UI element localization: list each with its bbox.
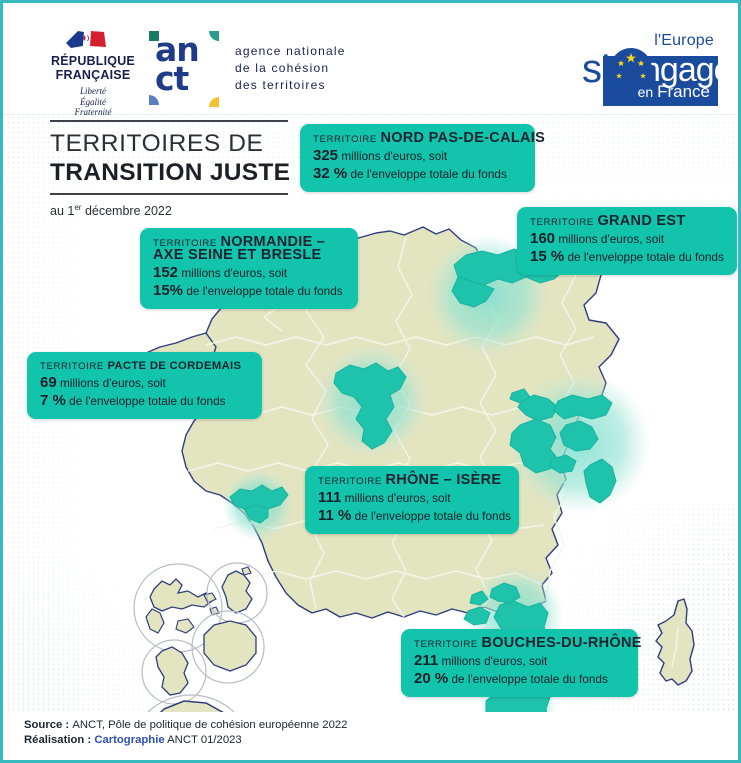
- callout-header: TERRITOIRE BOUCHES-DU-RHÔNE: [414, 636, 625, 652]
- anct-wordmark: an ct: [155, 33, 217, 95]
- poster-title-block: TERRITOIRES DE TRANSITION JUSTE au 1er d…: [50, 120, 312, 218]
- europe-leurope-text: l'Europe: [654, 32, 714, 50]
- callout-share-unit: de l'enveloppe totale du fonds: [186, 284, 342, 298]
- callout-share: 32 %: [313, 165, 347, 182]
- republique-motto: Liberté Égalité Fraternité: [41, 86, 145, 118]
- callout-bouches-du-rhone[interactable]: TERRITOIRE BOUCHES-DU-RHÔNE 211 millions…: [401, 629, 638, 697]
- corsica-island: [656, 599, 694, 685]
- republique-title: RÉPUBLIQUE FRANÇAISE: [41, 55, 145, 82]
- callout-share: 20 %: [414, 670, 448, 687]
- callout-amount-unit: millions d'euros, soit: [345, 491, 451, 505]
- poster-body: TERRITOIRES DE TRANSITION JUSTE au 1er d…: [6, 115, 741, 760]
- motto-egalite: Égalité: [41, 97, 145, 108]
- europe-en: en: [638, 84, 657, 100]
- zone-normandie-axe-seine-bresle: [316, 345, 428, 457]
- callout-territory-name: GRAND EST: [597, 213, 685, 229]
- callout-amount-unit: millions d'euros, soit: [60, 376, 166, 390]
- footer-cartographie-link[interactable]: Cartographie: [94, 734, 164, 746]
- page-title-line2: TRANSITION JUSTE: [50, 159, 312, 187]
- callout-pacte-de-cordemais[interactable]: TERRITOIRE PACTE DE CORDEMAIS 69 million…: [27, 352, 262, 419]
- callout-share-unit: de l'enveloppe totale du fonds: [69, 394, 225, 408]
- callout-nord-pas-de-calais[interactable]: TERRITOIRE NORD PAS-DE-CALAIS 325 millio…: [300, 124, 535, 192]
- callout-header: TERRITOIRE RHÔNE – ISÈRE: [318, 473, 506, 489]
- callout-grand-est[interactable]: TERRITOIRE GRAND EST 160 millions d'euro…: [517, 207, 737, 275]
- callout-territory-name: PACTE DE CORDEMAIS: [107, 360, 241, 372]
- callout-amount-line: 325 millions d'euros, soit: [313, 147, 522, 165]
- callout-amount: 152: [153, 264, 178, 281]
- callout-header: TERRITOIRE GRAND EST: [530, 214, 724, 230]
- page-title-line1: TERRITOIRES DE: [50, 130, 312, 158]
- callout-normandie-axe-seine-bresle[interactable]: TERRITOIRE NORMANDIE – AXE SEINE ET BRES…: [140, 228, 358, 309]
- footer-credits: Source : ANCT, Pôle de politique de cohé…: [6, 712, 741, 760]
- date-suffix: décembre 2022: [81, 204, 171, 218]
- callout-share-unit: de l'enveloppe totale du fonds: [567, 250, 723, 264]
- anct-tagline-line2: de la cohésion: [235, 60, 346, 77]
- callout-territory-name-line2: AXE SEINE ET BRESLE: [153, 247, 321, 263]
- republique-francaise-logo: RÉPUBLIQUE FRANÇAISE Liberté Égalité Fra…: [41, 29, 145, 118]
- callout-territory-name: RHÔNE – ISÈRE: [385, 472, 501, 488]
- callout-prefix: TERRITOIRE: [530, 217, 594, 228]
- callout-amount: 211: [414, 652, 438, 669]
- title-rule-top: [50, 120, 288, 122]
- callout-share: 11 %: [318, 507, 351, 524]
- infographic-page: RÉPUBLIQUE FRANÇAISE Liberté Égalité Fra…: [0, 0, 741, 763]
- callout-share-unit: de l'enveloppe totale du fonds: [350, 167, 506, 181]
- anct-logo: an ct: [149, 31, 221, 107]
- europe-s-text: s': [582, 49, 610, 89]
- footer-realisation-rest: ANCT 01/2023: [165, 734, 242, 746]
- callout-amount-line: 152 millions d'euros, soit: [153, 264, 345, 282]
- inset-la-reunion: [192, 611, 264, 683]
- callout-territory-name: BOUCHES-DU-RHÔNE: [481, 635, 641, 651]
- footer-source-label: Source :: [24, 719, 72, 731]
- callout-share-unit: de l'enveloppe totale du fonds: [355, 509, 511, 523]
- callout-amount-line: 111 millions d'euros, soit: [318, 489, 506, 507]
- callout-header: TERRITOIRE NORD PAS-DE-CALAIS: [313, 131, 522, 147]
- republique-line2: FRANÇAISE: [41, 69, 145, 83]
- callout-prefix: TERRITOIRE: [318, 476, 382, 487]
- anct-corner-yellow-icon: [209, 97, 219, 107]
- zone-grand-est: [507, 371, 651, 515]
- callout-share-line: 11 % de l'enveloppe totale du fonds: [318, 507, 506, 525]
- callout-amount: 69: [40, 374, 57, 391]
- anct-tagline: agence nationale de la cohésion des terr…: [235, 43, 346, 94]
- callout-amount-unit: millions d'euros, soit: [558, 232, 664, 246]
- callout-share-line: 20 % de l'enveloppe totale du fonds: [414, 670, 625, 688]
- callout-share: 15%: [153, 282, 183, 299]
- french-flag-icon: [64, 29, 122, 51]
- callout-amount-unit: millions d'euros, soit: [341, 149, 447, 163]
- callout-amount-unit: millions d'euros, soit: [181, 266, 287, 280]
- callout-amount-line: 211 millions d'euros, soit: [414, 652, 625, 670]
- inset-mayotte: [207, 563, 267, 623]
- callout-share: 7 %: [40, 392, 66, 409]
- footer-realisation-label: Réalisation :: [24, 734, 94, 746]
- callout-amount: 111: [318, 489, 341, 506]
- page-subtitle-date: au 1er décembre 2022: [50, 203, 312, 218]
- callout-share-line: 7 % de l'enveloppe totale du fonds: [40, 392, 249, 410]
- motto-liberte: Liberté: [41, 86, 145, 97]
- callout-prefix: TERRITOIRE: [313, 134, 377, 145]
- footer-realisation-line: Réalisation : Cartographie ANCT 01/2023: [24, 733, 242, 748]
- date-prefix: au 1: [50, 204, 74, 218]
- callout-header: TERRITOIRE PACTE DE CORDEMAIS: [40, 359, 249, 374]
- europe-sengage-logo: ngage s' l'Europe en France: [582, 32, 718, 106]
- footer-source-text: ANCT, Pôle de politique de cohésion euro…: [72, 719, 347, 731]
- callout-prefix: TERRITOIRE: [414, 639, 478, 650]
- callout-territory-name: NORD PAS-DE-CALAIS: [380, 130, 545, 146]
- callout-header-line2: AXE SEINE ET BRESLE: [153, 248, 345, 264]
- footer-source-line: Source : ANCT, Pôle de politique de cohé…: [24, 718, 347, 733]
- callout-share-line: 15% de l'enveloppe totale du fonds: [153, 282, 345, 300]
- callout-share-line: 32 % de l'enveloppe totale du fonds: [313, 165, 522, 183]
- header-bar: RÉPUBLIQUE FRANÇAISE Liberté Égalité Fra…: [3, 3, 738, 115]
- callout-prefix: TERRITOIRE: [40, 361, 104, 372]
- title-rule-bottom: [50, 193, 288, 195]
- republique-line1: RÉPUBLIQUE: [41, 55, 145, 69]
- callout-share-unit: de l'enveloppe totale du fonds: [451, 672, 607, 686]
- callout-amount-unit: millions d'euros, soit: [441, 654, 547, 668]
- anct-tagline-line1: agence nationale: [235, 43, 346, 60]
- callout-amount: 160: [530, 230, 555, 247]
- inset-martinique: [142, 640, 206, 704]
- callout-rhone-isere[interactable]: TERRITOIRE RHÔNE – ISÈRE 111 millions d'…: [305, 466, 519, 534]
- europe-enfrance-text: en France: [638, 82, 710, 102]
- zone-pacte-de-cordemais: [222, 469, 294, 541]
- callout-amount-line: 160 millions d'euros, soit: [530, 230, 724, 248]
- callout-share-line: 15 % de l'enveloppe totale du fonds: [530, 248, 724, 266]
- callout-amount: 325: [313, 147, 338, 164]
- callout-amount-line: 69 millions d'euros, soit: [40, 374, 249, 392]
- europe-france: France: [657, 82, 710, 101]
- anct-tagline-line3: des territoires: [235, 77, 346, 94]
- anct-ct: ct: [155, 62, 217, 95]
- callout-share: 15 %: [530, 248, 564, 265]
